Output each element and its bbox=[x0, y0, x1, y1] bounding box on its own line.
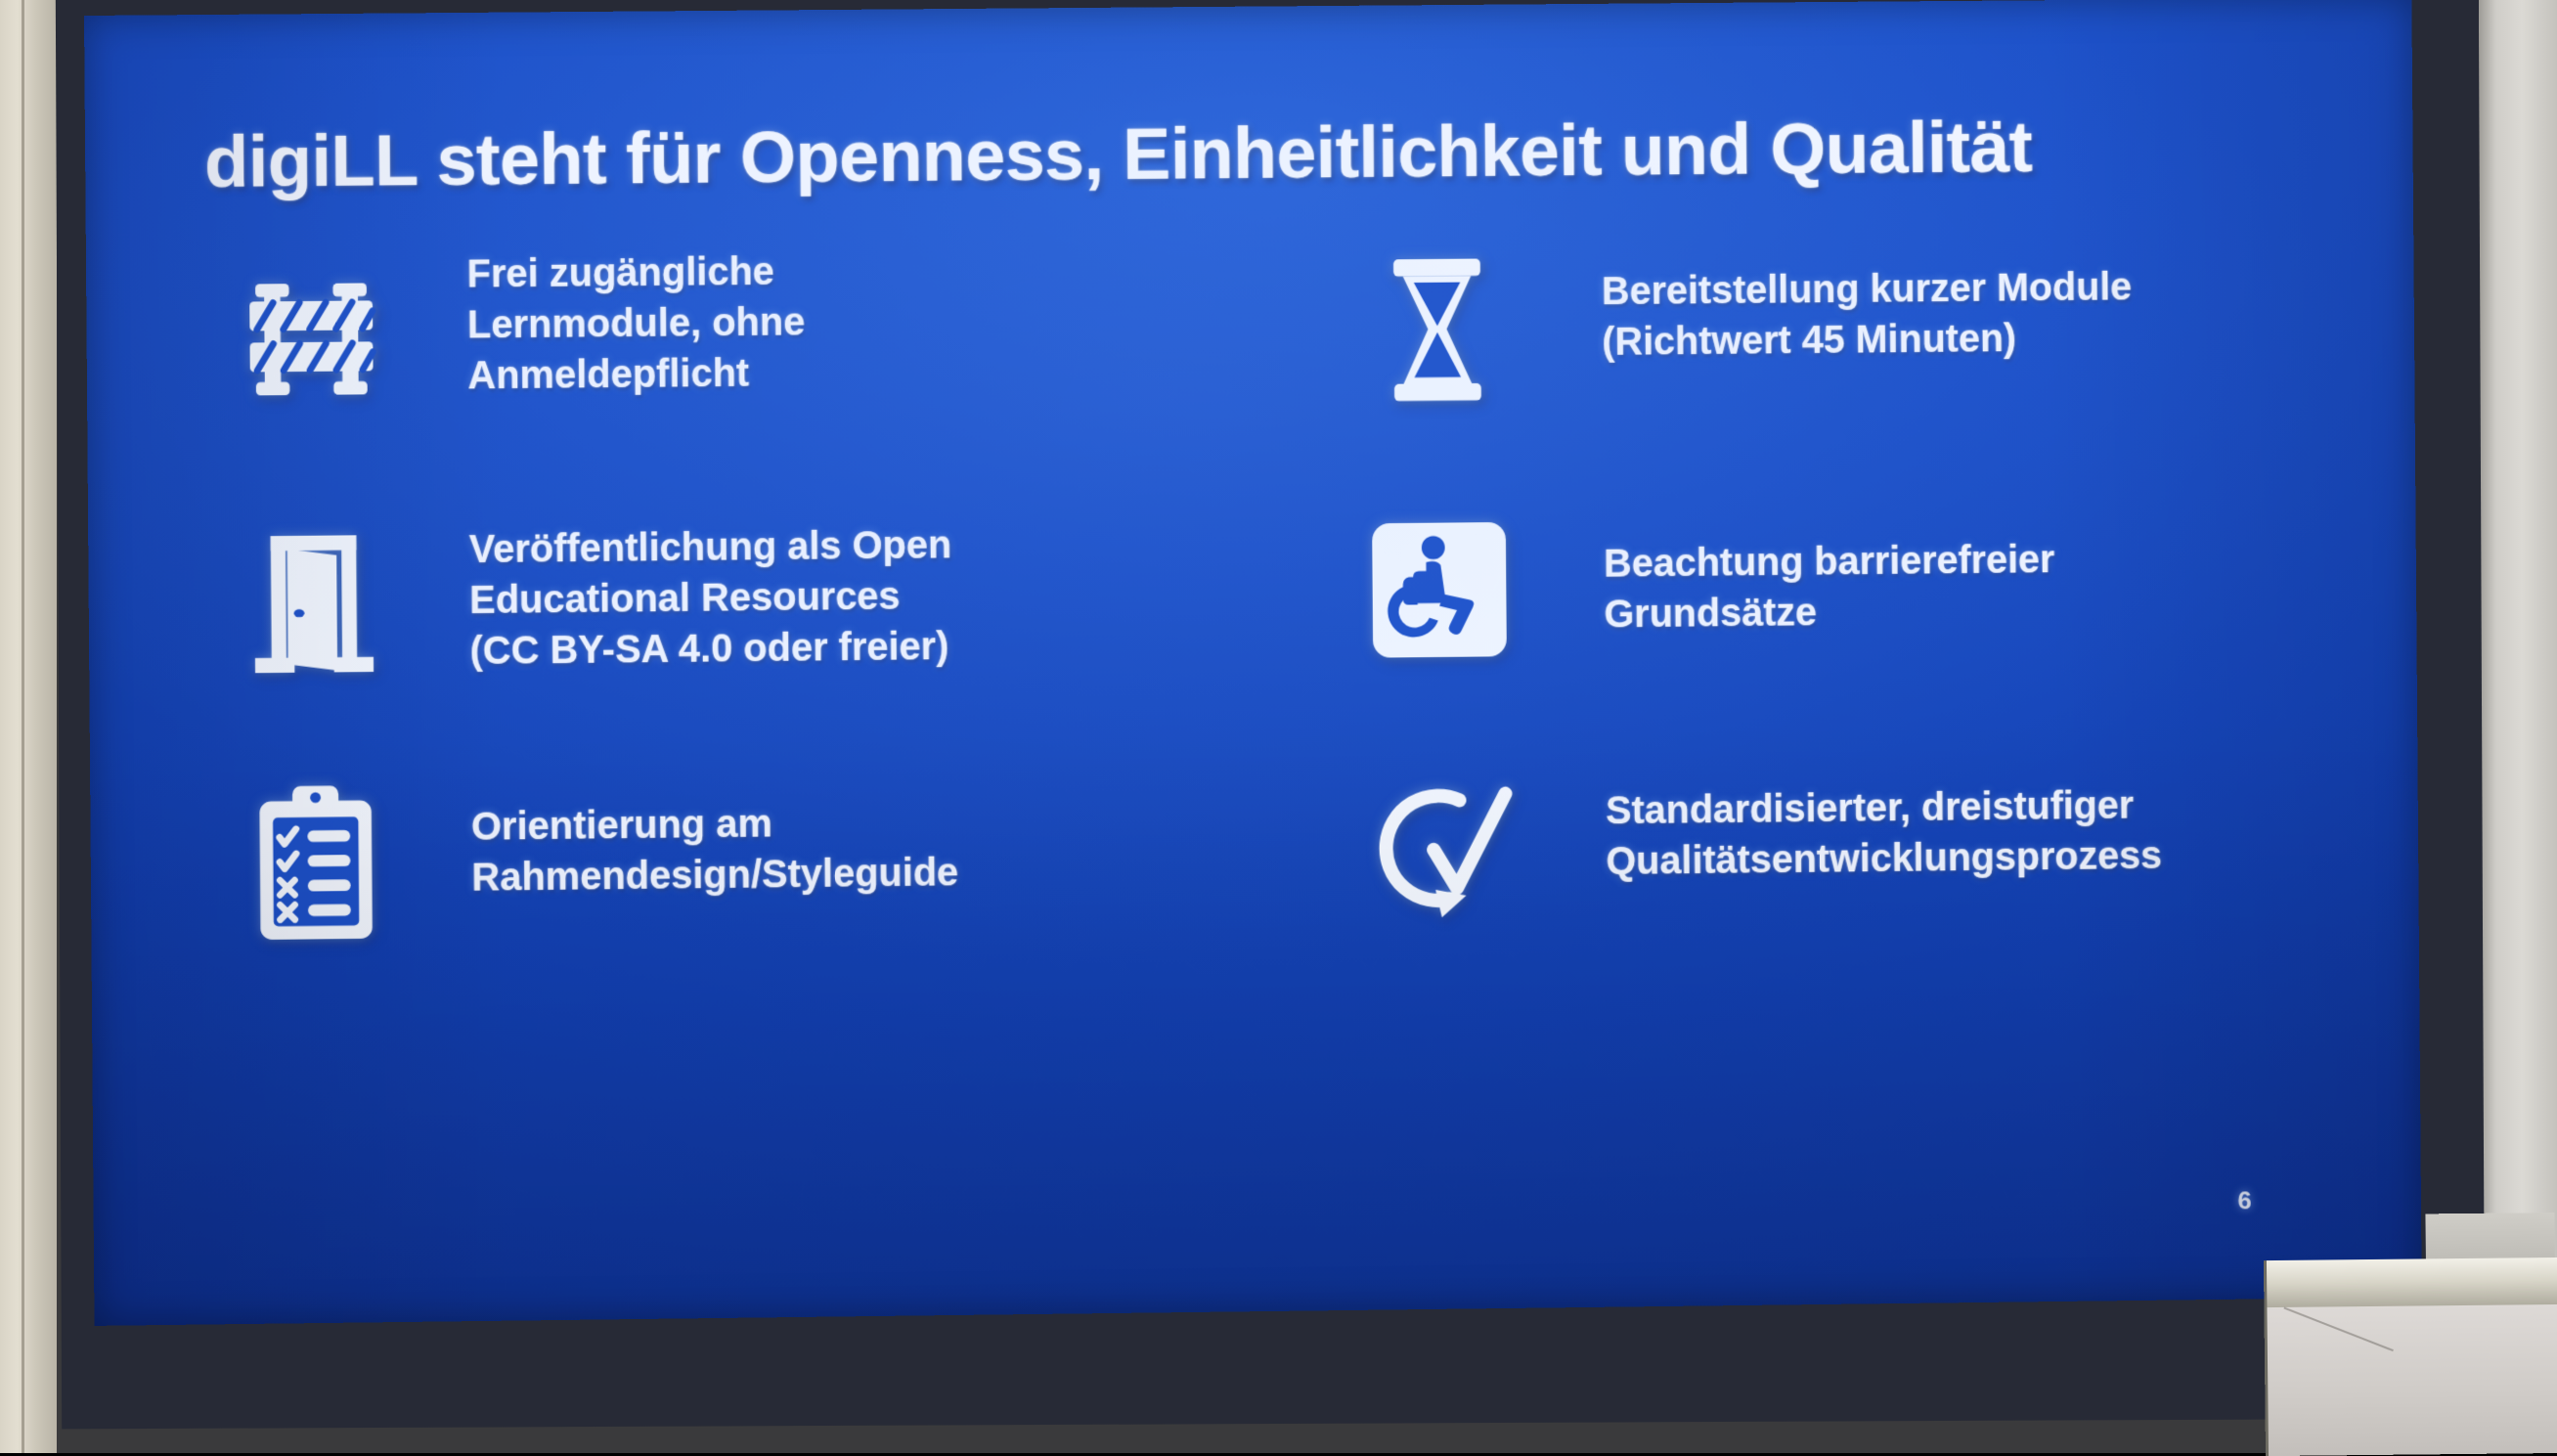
cycle-checkmark-icon bbox=[1344, 757, 1539, 944]
feature-item: Frei zugängliche Lernmodule, ohne Anmeld… bbox=[213, 239, 1256, 509]
feature-item: Orientierung am Rahmendesign/Styleguide bbox=[217, 760, 1260, 1033]
content-grid: Frei zugängliche Lernmodule, ohne Anmeld… bbox=[86, 228, 2420, 1035]
feature-text: Standardisierter, dreistufiger Qualitäts… bbox=[1606, 751, 2163, 887]
flipchart-paper bbox=[2264, 1304, 2557, 1456]
feature-line: (CC BY-SA 4.0 oder freier) bbox=[469, 621, 952, 677]
feature-line: Grundsätze bbox=[1604, 585, 2055, 640]
feature-text: Bereitstellung kurzer Module (Richtwert … bbox=[1601, 231, 2132, 368]
feature-line: Veröffentlichung als Open bbox=[469, 519, 952, 575]
flipchart-board bbox=[2264, 1257, 2557, 1456]
room-scene: digiLL steht für Openness, Einheitlichke… bbox=[0, 0, 2557, 1453]
feature-text: Frei zugängliche Lernmodule, ohne Anmeld… bbox=[466, 243, 806, 402]
feature-item: Bereitstellung kurzer Module (Richtwert … bbox=[1288, 229, 2323, 499]
feature-line: (Richtwert 45 Minuten) bbox=[1602, 312, 2133, 368]
feature-text: Beachtung barrierefreier Grundsätze bbox=[1604, 492, 2055, 640]
feature-item: Veröffentlichung als Open Educational Re… bbox=[215, 500, 1258, 772]
feature-text: Veröffentlichung als Open Educational Re… bbox=[468, 503, 952, 677]
wall-left bbox=[0, 0, 57, 1453]
presentation-slide: digiLL steht für Openness, Einheitlichke… bbox=[84, 0, 2422, 1326]
feature-line: Rahmendesign/Styleguide bbox=[471, 847, 958, 903]
wall-seam bbox=[22, 0, 24, 1453]
feature-item: Beachtung barrierefreier Grundsätze bbox=[1290, 489, 2325, 760]
feature-line: Frei zugängliche bbox=[466, 246, 805, 300]
barrier-icon bbox=[213, 245, 410, 433]
feature-line: Orientierung am bbox=[471, 797, 958, 853]
feature-item: Standardisierter, dreistufiger Qualitäts… bbox=[1292, 749, 2327, 1021]
feature-line: Lernmodule, ohne bbox=[467, 296, 806, 350]
slide-page-number: 6 bbox=[2237, 1185, 2251, 1215]
feature-line: Qualitätsentwicklungsprozess bbox=[1606, 830, 2162, 887]
open-door-icon bbox=[215, 507, 412, 695]
feature-line: Beachtung barrierefreier bbox=[1604, 534, 2055, 589]
flipchart-rail bbox=[2264, 1257, 2557, 1311]
hourglass-icon bbox=[1340, 236, 1535, 422]
wheelchair-accessibility-icon bbox=[1342, 497, 1537, 684]
feature-line: Educational Resources bbox=[469, 570, 952, 626]
feature-text: Orientierung am Rahmendesign/Styleguide bbox=[471, 764, 959, 904]
slide-title: digiLL steht für Openness, Einheitlichke… bbox=[204, 109, 2145, 201]
feature-line: Standardisierter, dreistufiger bbox=[1606, 780, 2162, 837]
clipboard-checklist-icon bbox=[217, 770, 414, 957]
feature-line: Bereitstellung kurzer Module bbox=[1602, 262, 2133, 317]
feature-line: Anmeldepflicht bbox=[467, 347, 806, 401]
